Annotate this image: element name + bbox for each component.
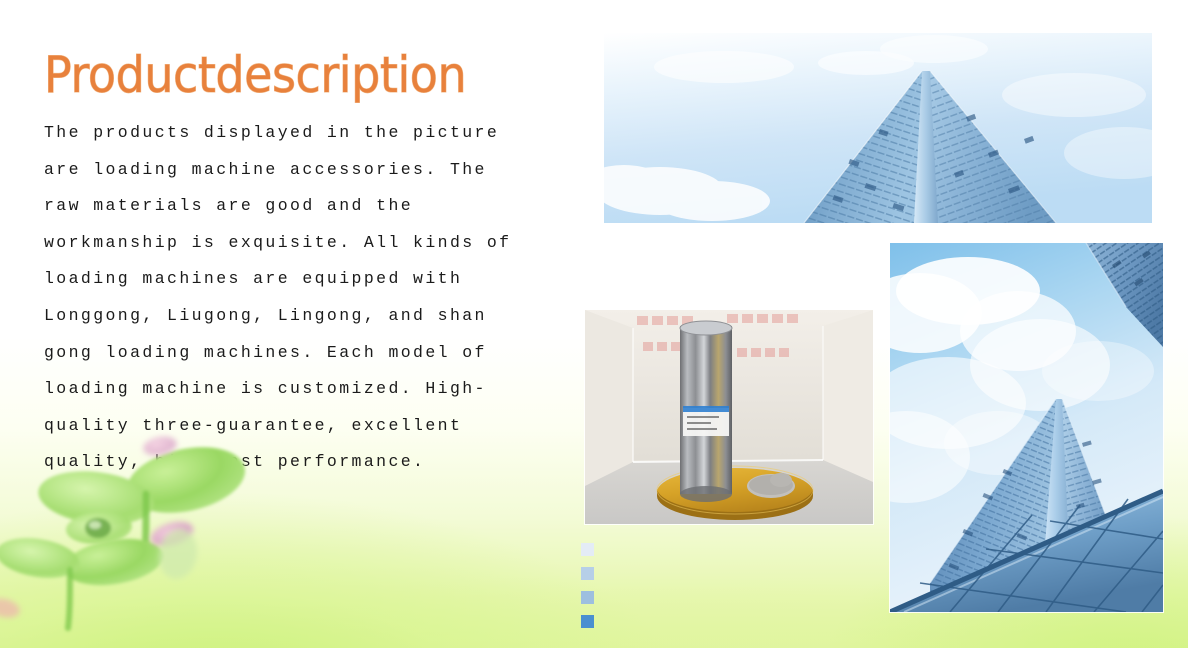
product-description-text: The products displayed in the picture ar… — [44, 115, 544, 481]
page-title: Productdescription — [44, 48, 504, 103]
photo-skyline-portrait-side — [890, 243, 1163, 612]
decorative-square-4 — [581, 615, 594, 628]
decorative-square-column — [581, 543, 595, 629]
skyline-portrait-illustration — [890, 243, 1163, 612]
slide-canvas: Productdescription The products displaye… — [0, 0, 1188, 648]
decorative-square-2 — [581, 567, 594, 580]
sprout-lower — [0, 532, 167, 628]
decorative-square-3 — [581, 591, 594, 604]
photo-skyline-banner-top — [604, 33, 1152, 223]
skyline-banner-illustration — [604, 33, 1152, 223]
photo-product — [585, 310, 873, 524]
pin-label-blue-band — [683, 406, 729, 412]
product-photo-illustration — [585, 310, 873, 524]
text-column: Productdescription The products displaye… — [44, 48, 544, 481]
decorative-square-1 — [581, 543, 594, 556]
steel-pin — [680, 321, 732, 502]
